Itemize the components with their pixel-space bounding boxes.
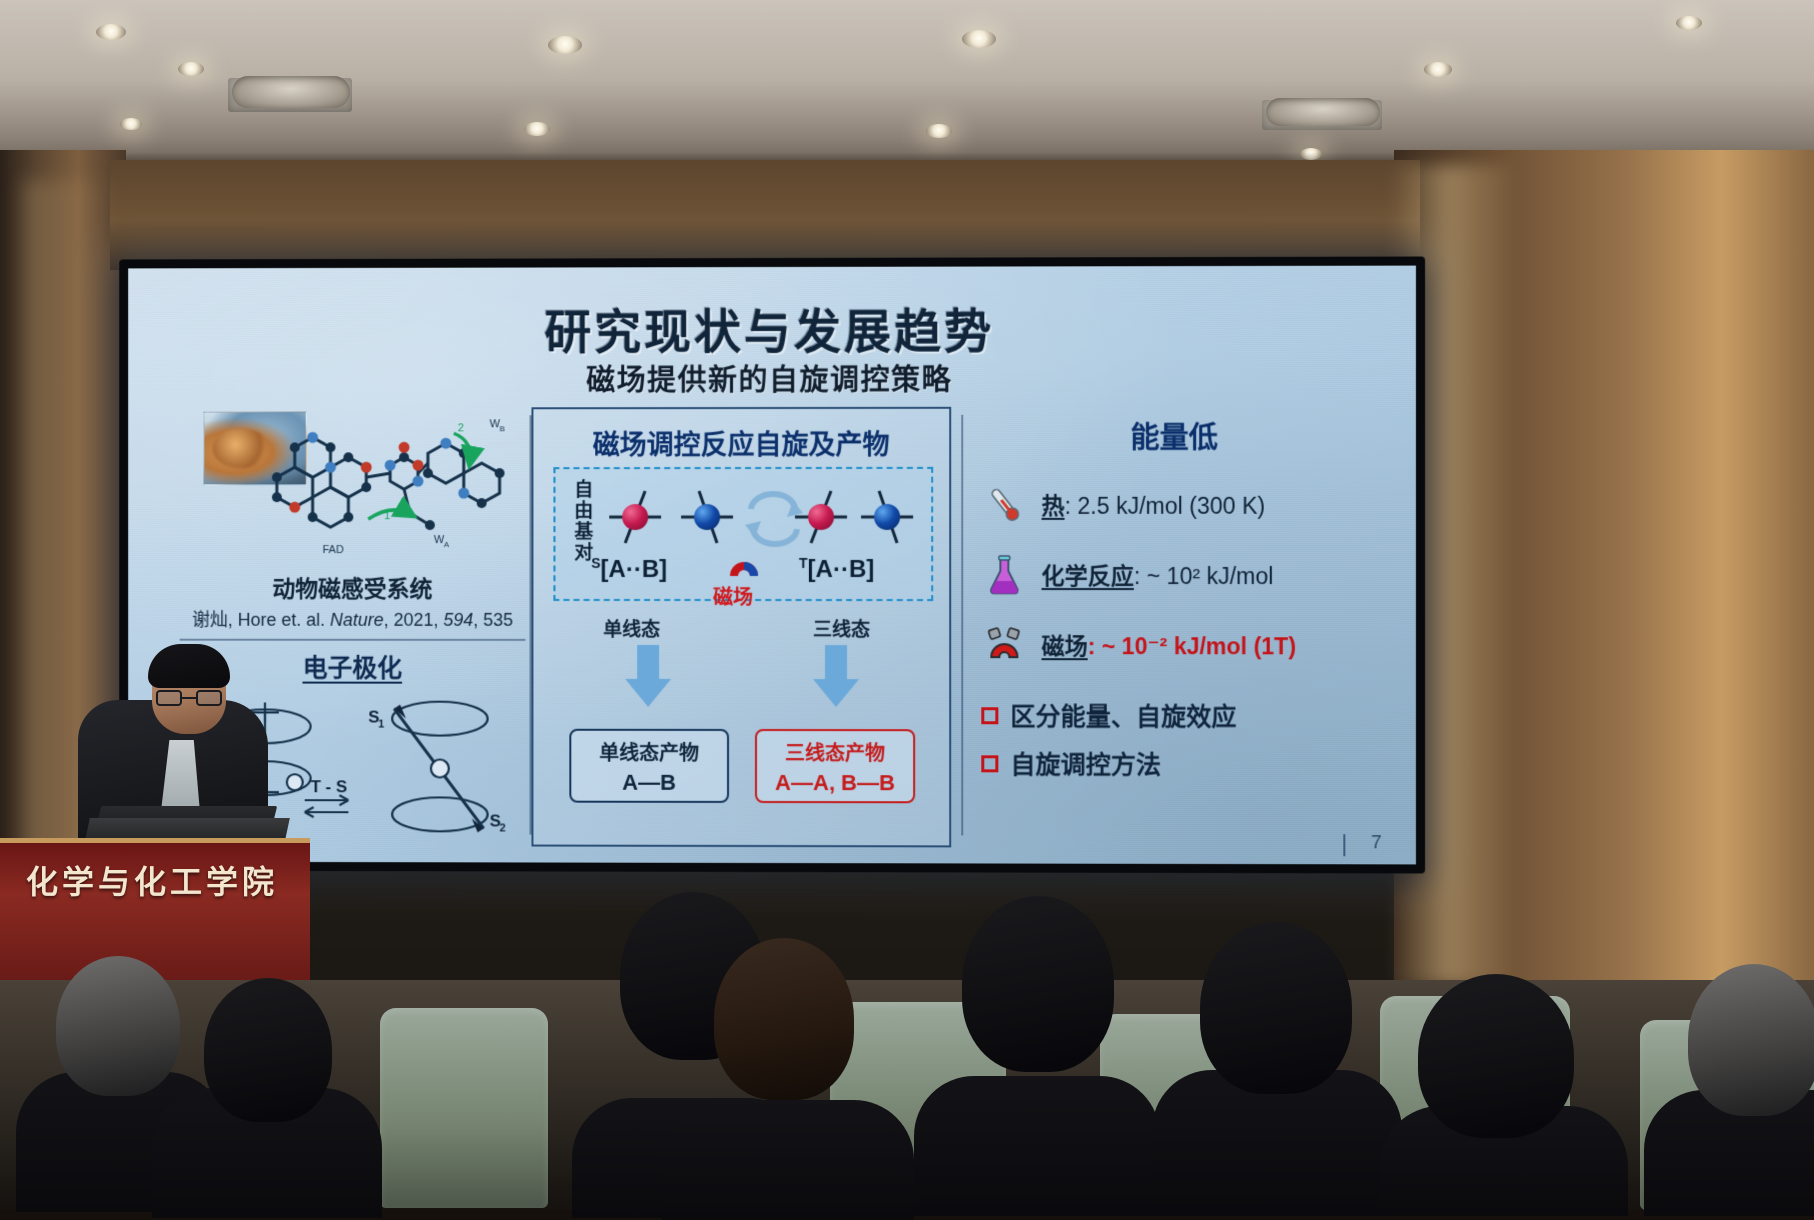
bullet-item: 自旋调控方法: [981, 745, 1236, 781]
citation-journal: Nature: [330, 610, 384, 630]
podium-sign-text: 化学与化工学院: [26, 857, 278, 903]
ceiling-light-slot: [1266, 98, 1380, 126]
citation-volume: 594: [443, 610, 473, 630]
svg-text:FAD: FAD: [323, 544, 344, 556]
singlet-product-formula: A—B: [622, 769, 676, 795]
bullet-label: 区分能量、自旋效应: [1010, 697, 1236, 733]
interconversion-arrows-icon: [739, 491, 809, 547]
left-figure-caption: 动物磁感受系统: [174, 570, 532, 604]
svg-text:B: B: [500, 424, 505, 433]
singlet-product-box: 单线态产物 A—B: [569, 729, 729, 803]
downlight: [962, 30, 996, 48]
singlet-prefix: S: [591, 555, 600, 571]
downlight: [96, 24, 126, 40]
pair-right: ·B]: [841, 556, 874, 583]
pair-right: ·B]: [634, 556, 667, 583]
state-label-singlet: 单线态: [603, 615, 660, 642]
downlight: [1300, 148, 1322, 160]
wall-upper-panel: [110, 160, 1420, 270]
square-bullet-icon: [981, 755, 998, 772]
audience-head: [1418, 974, 1574, 1138]
svg-text:T - S: T - S: [311, 777, 348, 796]
audience-area: [0, 980, 1814, 1210]
radical-pair-vertical-label: 自由基对: [563, 479, 591, 563]
square-bullet-icon: [981, 707, 998, 724]
ceiling-light-slot: [232, 76, 350, 108]
svg-text:2: 2: [458, 422, 464, 434]
spin-sphere-blue: [694, 504, 720, 530]
speaker-glasses: [156, 690, 222, 706]
magnetic-control-title: 磁场调控反应自旋及产物: [533, 423, 949, 462]
radical-pair-dashed-box: 自由基对: [553, 467, 933, 601]
slide-content: 研究现状与发展趋势 磁场提供新的自旋调控策略: [128, 266, 1416, 865]
energy-key-magnetic: 磁场: [1041, 633, 1087, 659]
energy-row-heat: 热: 2.5 kJ/mol (300 K): [983, 483, 1265, 525]
speaker-hair: [148, 644, 230, 688]
thermometer-icon: [983, 483, 1025, 525]
audience-head: [1200, 922, 1352, 1094]
audience-shoulders: [662, 1100, 914, 1220]
left-figure-citation: 谢灿, Hore et. al. Nature, 2021, 594, 535: [174, 606, 532, 632]
downlight: [178, 62, 204, 76]
takeaway-bullets: 区分能量、自旋效应 自旋调控方法: [981, 697, 1236, 794]
magnet-small-icon: [727, 557, 761, 577]
audience-head: [1688, 964, 1814, 1116]
energy-row-magnetic: 磁场: ~ 10⁻² kJ/mol (1T): [983, 623, 1296, 665]
audience-head: [962, 896, 1114, 1072]
downlight: [1424, 62, 1452, 77]
audience-head: [714, 938, 854, 1100]
energy-key-chemical: 化学反应: [1041, 563, 1133, 589]
singlet-product-title: 单线态产物: [599, 736, 699, 765]
bullet-item: 区分能量、自旋效应: [981, 697, 1236, 733]
magnet-icon: [983, 623, 1025, 665]
presentation-screen-bezel: 研究现状与发展趋势 磁场提供新的自旋调控策略: [119, 257, 1425, 874]
state-label-triplet: 三线态: [813, 615, 870, 642]
triplet-prefix: T: [799, 555, 808, 571]
lecture-room: 研究现状与发展趋势 磁场提供新的自旋调控策略: [0, 0, 1814, 1210]
section-divider: [180, 639, 526, 641]
energy-key-heat: 热: [1041, 493, 1064, 519]
triplet-product-formula: A—A, B—B: [775, 770, 895, 796]
page-marker: [1343, 834, 1345, 856]
middle-column: 磁场调控反应自旋及产物 自由基对: [525, 407, 957, 408]
spin-sphere-blue: [874, 504, 900, 530]
radical-pair-molecule-diagram: FAD W A W B 1 2: [174, 407, 532, 557]
spin-sphere-row: [599, 485, 929, 549]
citation-pages: , 535: [473, 610, 513, 630]
svg-text:A: A: [444, 540, 450, 549]
downlight: [120, 118, 142, 130]
spin-sphere-red: [622, 504, 648, 530]
triplet-bracket: T[A··B]: [799, 555, 874, 584]
triplet-product-box: 三线态产物 A—A, B—B: [755, 729, 915, 803]
downlight: [548, 36, 582, 54]
pair-left: [A·: [808, 556, 841, 583]
slide-title: 研究现状与发展趋势: [128, 292, 1416, 363]
bullet-label: 自旋调控方法: [1010, 745, 1161, 781]
magnetic-field-label: 磁场: [713, 581, 753, 610]
downlight: [926, 124, 952, 138]
presentation-screen[interactable]: 研究现状与发展趋势 磁场提供新的自旋调控策略: [128, 266, 1416, 865]
energy-value-chemical: : ~ 10² kJ/mol: [1134, 563, 1274, 589]
audience-head: [204, 978, 332, 1122]
arrow-to-triplet-product: [813, 645, 859, 707]
citation-authors: 谢灿, Hore et. al.: [192, 610, 330, 630]
energy-value-heat: : 2.5 kJ/mol (300 K): [1065, 493, 1266, 519]
pair-left: [A·: [601, 556, 634, 583]
arrow-to-singlet-product: [625, 645, 671, 707]
slide-subtitle: 磁场提供新的自旋调控策略: [128, 356, 1416, 400]
downlight: [1676, 16, 1702, 30]
chair: [380, 1008, 548, 1208]
triplet-product-title: 三线态产物: [785, 737, 885, 766]
energy-value-magnetic: : ~ 10⁻² kJ/mol (1T): [1088, 633, 1296, 659]
svg-text:2: 2: [500, 822, 506, 834]
energy-section-title: 能量低: [973, 414, 1375, 457]
magnetic-control-box: 磁场调控反应自旋及产物 自由基对: [531, 407, 951, 848]
singlet-bracket: S[A··B]: [591, 555, 667, 584]
svg-text:1: 1: [384, 510, 390, 522]
audience-shoulders: [914, 1076, 1160, 1216]
audience-head: [56, 956, 180, 1096]
column-divider: [961, 415, 963, 836]
citation-year: , 2021,: [384, 610, 444, 630]
energy-row-chemical: 化学反应: ~ 10² kJ/mol: [983, 553, 1273, 595]
svg-text:1: 1: [378, 719, 384, 731]
slide-page-number: 7: [1371, 832, 1382, 854]
flask-icon: [983, 553, 1025, 595]
downlight: [524, 122, 550, 136]
spin-sphere-red: [808, 504, 834, 530]
